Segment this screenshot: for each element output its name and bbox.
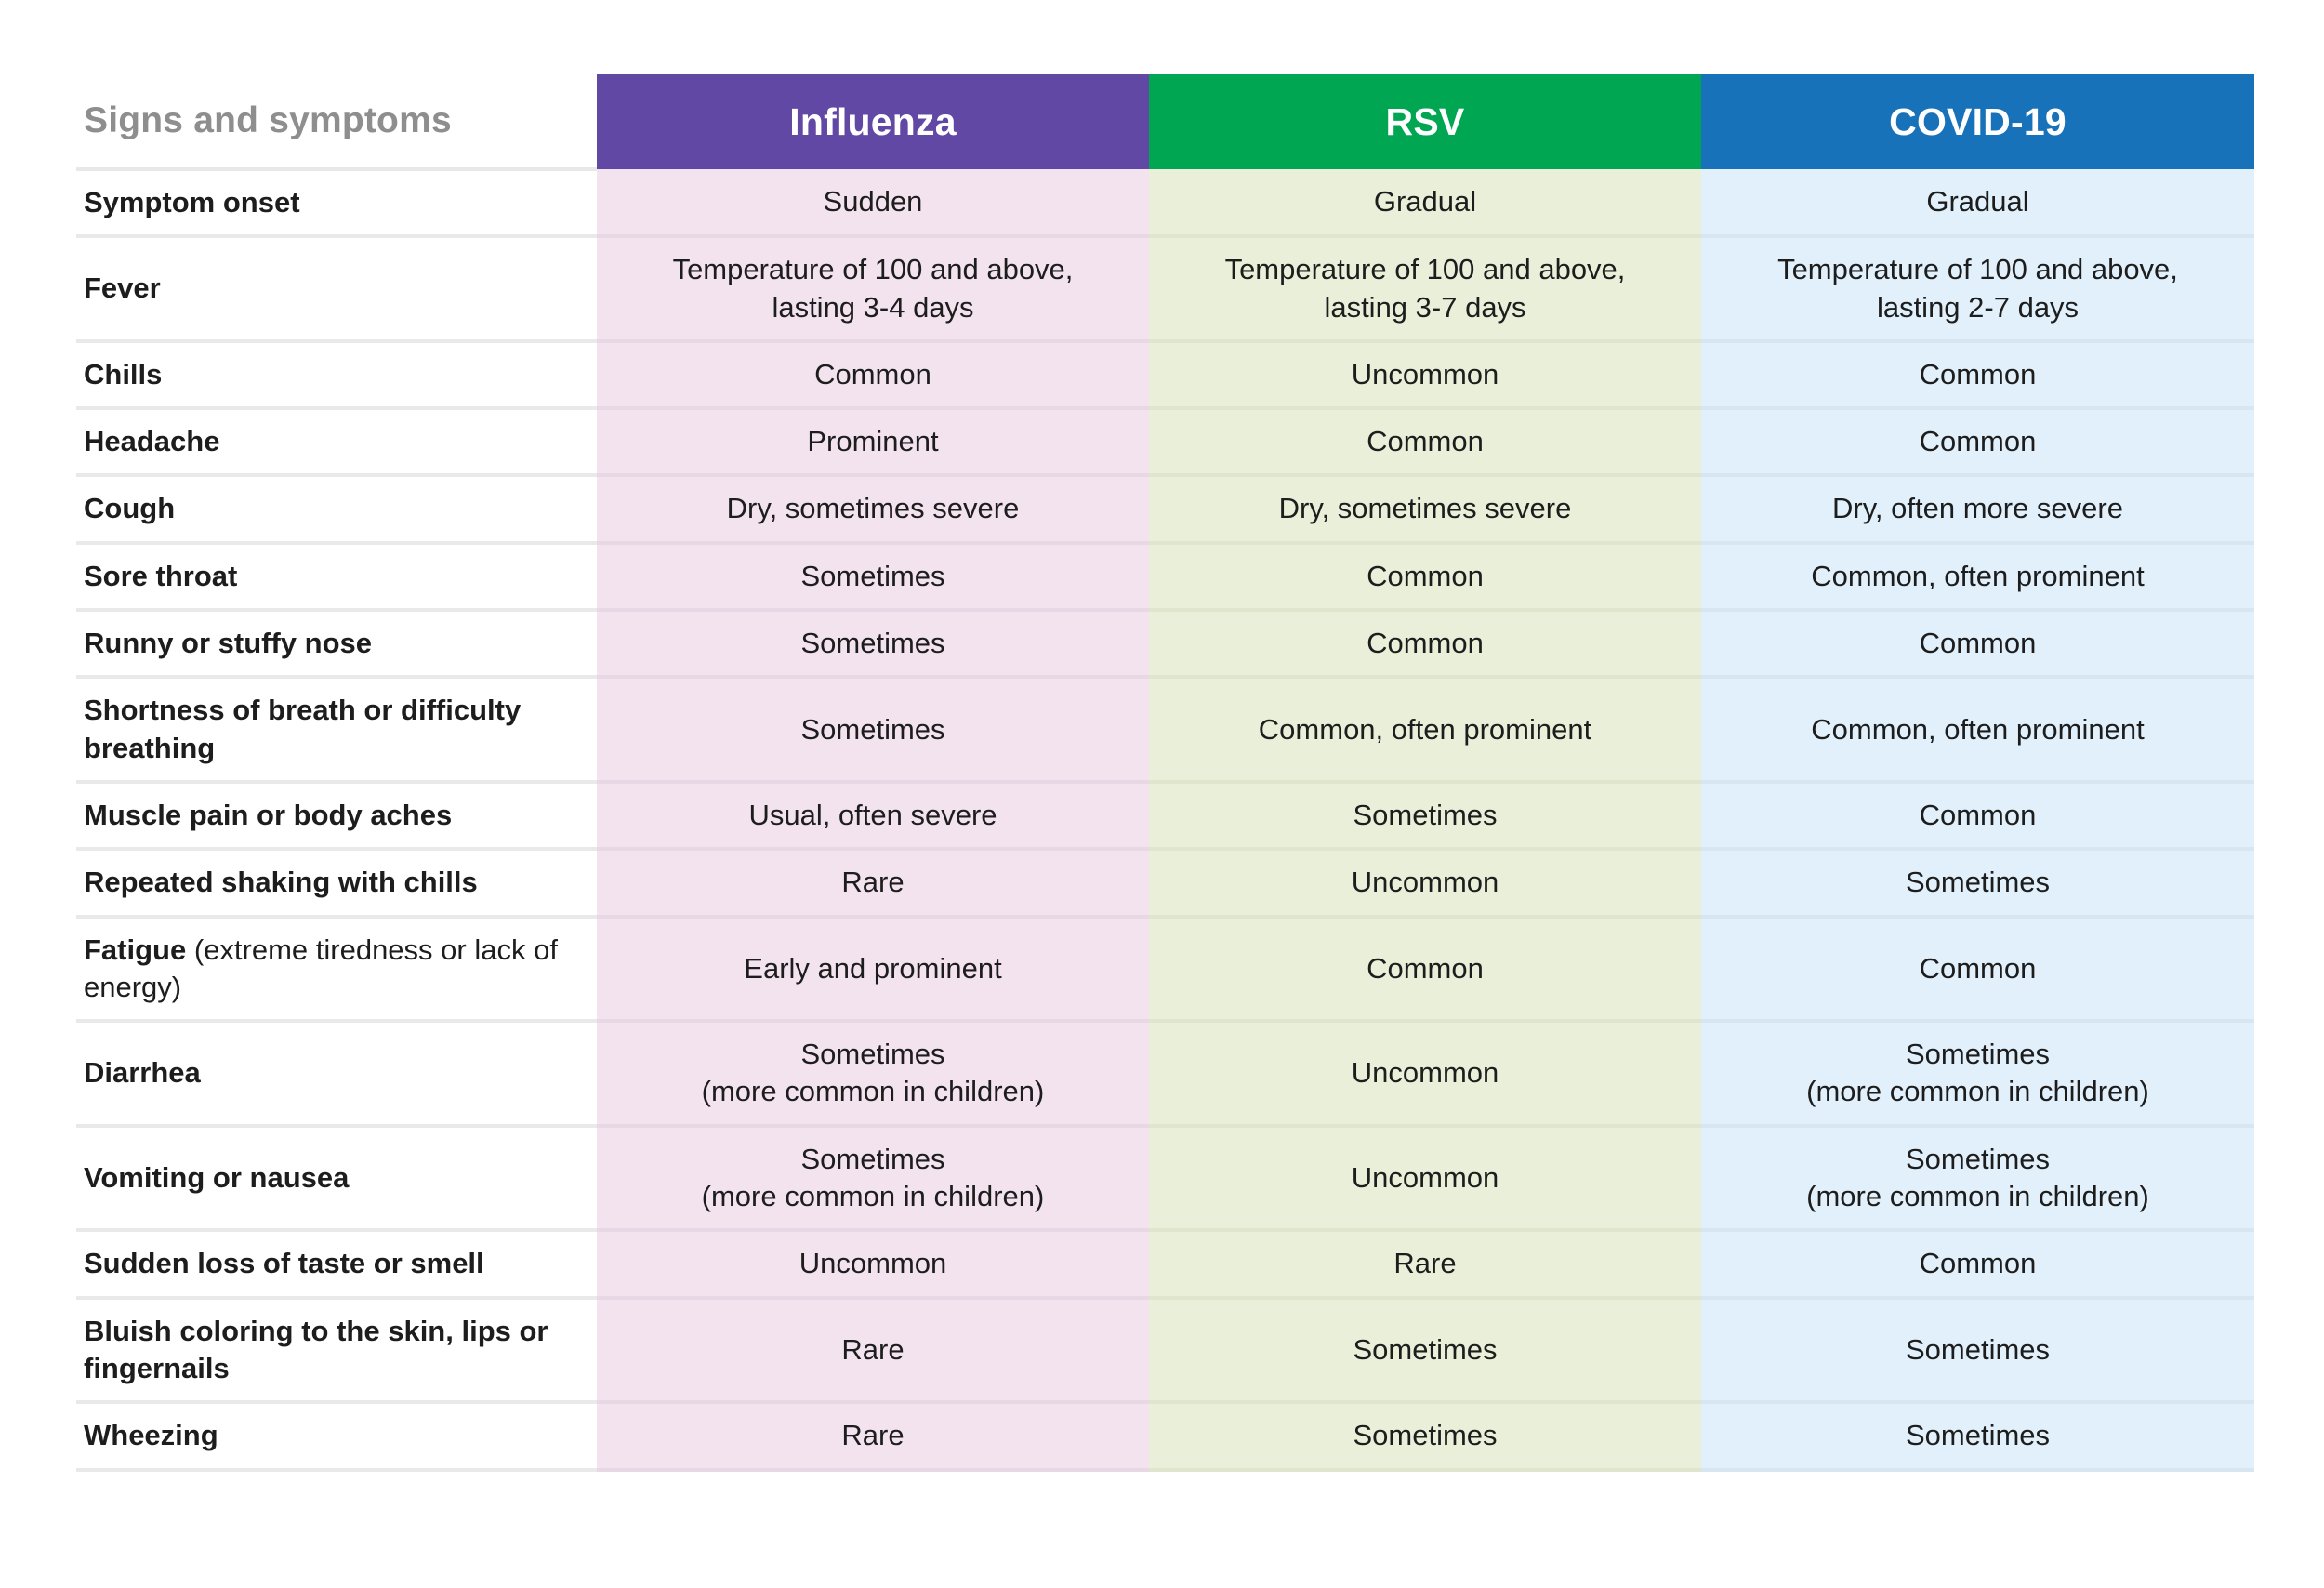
table-row: CoughDry, sometimes severeDry, sometimes… (76, 475, 2254, 542)
cell-influenza: Sometimes(more common in children) (597, 1126, 1149, 1231)
cell-covid-19: Common (1701, 408, 2254, 475)
row-label-text: Chills (84, 358, 162, 390)
row-label-text: Sore throat (84, 560, 237, 592)
cell-text-line-1: Sometimes (800, 1038, 944, 1070)
cell-covid-19: Common (1701, 1230, 2254, 1297)
table-row: HeadacheProminentCommonCommon (76, 408, 2254, 475)
cell-covid-19: Common, often prominent (1701, 677, 2254, 782)
cell-text-line-1: Gradual (1374, 185, 1476, 218)
row-label-cell: Runny or stuffy nose (76, 610, 597, 677)
cell-covid-19: Gradual (1701, 169, 2254, 236)
row-label-text: Headache (84, 425, 219, 457)
cell-text-line-2: (more common in children) (1716, 1073, 2239, 1110)
cell-covid-19: Common, often prominent (1701, 543, 2254, 610)
row-label-text: Sudden loss of taste or smell (84, 1247, 484, 1279)
table-row: Sudden loss of taste or smellUncommonRar… (76, 1230, 2254, 1297)
cell-covid-19: Common (1701, 782, 2254, 849)
row-label-text: Fatigue (84, 933, 186, 966)
cell-text-line-1: Sometimes (1906, 1143, 2050, 1175)
cell-text-line-1: Dry, sometimes severe (1279, 492, 1572, 524)
symptom-comparison-table: Signs and symptoms Influenza RSV COVID-1… (76, 74, 2254, 1472)
cell-text-line-2: lasting 2-7 days (1716, 289, 2239, 326)
cell-rsv: Common (1149, 408, 1701, 475)
cell-text-line-1: Sometimes (800, 713, 944, 746)
cell-text-line-1: Rare (1393, 1247, 1456, 1279)
row-label-text: Runny or stuffy nose (84, 627, 372, 659)
row-label-cell: Bluish coloring to the skin, lips or fin… (76, 1298, 597, 1403)
row-label-text: Bluish coloring to the skin, lips or fin… (84, 1315, 548, 1384)
symptom-comparison-table-container: Signs and symptoms Influenza RSV COVID-1… (76, 74, 2254, 1472)
row-label-text: Cough (84, 492, 175, 524)
table-row: Repeated shaking with chillsRareUncommon… (76, 849, 2254, 916)
cell-text-line-1: Uncommon (1352, 1161, 1499, 1194)
table-row: FeverTemperature of 100 and above,lastin… (76, 236, 2254, 341)
cell-influenza: Early and prominent (597, 917, 1149, 1022)
cell-text-line-1: Sometimes (800, 560, 944, 592)
table-row: Runny or stuffy noseSometimesCommonCommo… (76, 610, 2254, 677)
cell-rsv: Rare (1149, 1230, 1701, 1297)
cell-text-line-1: Common (814, 358, 931, 390)
row-label-cell: Muscle pain or body aches (76, 782, 597, 849)
cell-rsv: Gradual (1149, 169, 1701, 236)
row-label-cell: Diarrhea (76, 1021, 597, 1126)
cell-text-line-1: Sometimes (1353, 1333, 1497, 1366)
row-label-text: Muscle pain or body aches (84, 799, 452, 831)
row-label-cell: Chills (76, 341, 597, 408)
cell-influenza: Usual, often severe (597, 782, 1149, 849)
cell-text-line-1: Sometimes (1906, 866, 2050, 898)
table-row: Vomiting or nauseaSometimes(more common … (76, 1126, 2254, 1231)
cell-rsv: Sometimes (1149, 1402, 1701, 1469)
cell-covid-19: Sometimes (1701, 1402, 2254, 1469)
cell-text-line-1: Sudden (824, 185, 923, 218)
cell-influenza: Temperature of 100 and above,lasting 3-4… (597, 236, 1149, 341)
cell-covid-19: Common (1701, 341, 2254, 408)
cell-text-line-1: Sometimes (800, 627, 944, 659)
cell-text-line-1: Common (1367, 425, 1484, 457)
cell-text-line-1: Common, often prominent (1811, 713, 2144, 746)
cell-text-line-1: Rare (841, 866, 904, 898)
cell-influenza: Prominent (597, 408, 1149, 475)
row-label-cell: Symptom onset (76, 169, 597, 236)
table-row: Bluish coloring to the skin, lips or fin… (76, 1298, 2254, 1403)
cell-text-line-1: Common (1367, 952, 1484, 985)
cell-text-line-1: Rare (841, 1333, 904, 1366)
cell-rsv: Common (1149, 543, 1701, 610)
cell-text-line-1: Temperature of 100 and above, (1225, 253, 1626, 285)
cell-text-line-1: Dry, sometimes severe (727, 492, 1020, 524)
row-label-text: Fever (84, 271, 161, 304)
cell-text-line-1: Sometimes (1906, 1419, 2050, 1451)
column-header-signs-and-symptoms: Signs and symptoms (76, 74, 597, 169)
comparison-table-page: Signs and symptoms Influenza RSV COVID-1… (0, 0, 2324, 1588)
cell-text-line-1: Prominent (807, 425, 938, 457)
table-row: Symptom onsetSuddenGradualGradual (76, 169, 2254, 236)
cell-text-line-1: Common, often prominent (1259, 713, 1591, 746)
cell-covid-19: Sometimes(more common in children) (1701, 1021, 2254, 1126)
cell-text-line-1: Common (1367, 627, 1484, 659)
row-label-cell: Fatigue (extreme tiredness or lack of en… (76, 917, 597, 1022)
cell-text-line-1: Uncommon (799, 1247, 947, 1279)
table-row: DiarrheaSometimes(more common in childre… (76, 1021, 2254, 1126)
cell-rsv: Uncommon (1149, 1126, 1701, 1231)
table-header: Signs and symptoms Influenza RSV COVID-1… (76, 74, 2254, 169)
table-row: Sore throatSometimesCommonCommon, often … (76, 543, 2254, 610)
cell-text-line-1: Common (1920, 627, 2037, 659)
row-label-text: Repeated shaking with chills (84, 866, 478, 898)
cell-influenza: Rare (597, 849, 1149, 916)
cell-covid-19: Temperature of 100 and above,lasting 2-7… (1701, 236, 2254, 341)
cell-text-line-1: Common (1920, 1247, 2037, 1279)
cell-text-line-1: Sometimes (1353, 799, 1497, 831)
row-label-cell: Cough (76, 475, 597, 542)
cell-text-line-1: Sometimes (800, 1143, 944, 1175)
row-label-cell: Repeated shaking with chills (76, 849, 597, 916)
cell-text-line-1: Common (1920, 425, 2037, 457)
cell-influenza: Rare (597, 1402, 1149, 1469)
cell-rsv: Common (1149, 917, 1701, 1022)
cell-influenza: Common (597, 341, 1149, 408)
cell-covid-19: Dry, often more severe (1701, 475, 2254, 542)
cell-rsv: Temperature of 100 and above,lasting 3-7… (1149, 236, 1701, 341)
table-row: ChillsCommonUncommonCommon (76, 341, 2254, 408)
row-label-text: Diarrhea (84, 1056, 201, 1089)
cell-rsv: Dry, sometimes severe (1149, 475, 1701, 542)
cell-text-line-2: (more common in children) (1716, 1178, 2239, 1215)
cell-rsv: Common (1149, 610, 1701, 677)
row-label-cell: Sudden loss of taste or smell (76, 1230, 597, 1297)
cell-text-line-1: Early and prominent (744, 952, 1001, 985)
cell-text-line-1: Uncommon (1352, 358, 1499, 390)
row-label-cell: Shortness of breath or difficulty breath… (76, 677, 597, 782)
cell-text-line-1: Common (1920, 358, 2037, 390)
cell-text-line-1: Common (1920, 952, 2037, 985)
table-row: WheezingRareSometimesSometimes (76, 1402, 2254, 1469)
cell-influenza: Sometimes (597, 543, 1149, 610)
cell-influenza: Sudden (597, 169, 1149, 236)
cell-rsv: Uncommon (1149, 341, 1701, 408)
table-row: Fatigue (extreme tiredness or lack of en… (76, 917, 2254, 1022)
row-label-text: Vomiting or nausea (84, 1161, 349, 1194)
cell-text-line-1: Usual, often severe (748, 799, 997, 831)
cell-text-line-1: Rare (841, 1419, 904, 1451)
row-label-text: Wheezing (84, 1419, 218, 1451)
cell-covid-19: Sometimes (1701, 849, 2254, 916)
cell-text-line-1: Gradual (1926, 185, 2028, 218)
column-header-influenza: Influenza (597, 74, 1149, 169)
cell-covid-19: Common (1701, 610, 2254, 677)
cell-text-line-2: lasting 3-7 days (1164, 289, 1686, 326)
table-row: Muscle pain or body achesUsual, often se… (76, 782, 2254, 849)
table-row: Shortness of breath or difficulty breath… (76, 677, 2254, 782)
cell-influenza: Sometimes (597, 610, 1149, 677)
cell-influenza: Dry, sometimes severe (597, 475, 1149, 542)
cell-text-line-1: Uncommon (1352, 1056, 1499, 1089)
cell-influenza: Sometimes (597, 677, 1149, 782)
cell-rsv: Common, often prominent (1149, 677, 1701, 782)
cell-covid-19: Sometimes (1701, 1298, 2254, 1403)
cell-text-line-2: (more common in children) (612, 1178, 1134, 1215)
table-header-row: Signs and symptoms Influenza RSV COVID-1… (76, 74, 2254, 169)
row-label-cell: Wheezing (76, 1402, 597, 1469)
column-header-covid-19: COVID-19 (1701, 74, 2254, 169)
cell-rsv: Sometimes (1149, 1298, 1701, 1403)
cell-text-line-1: Uncommon (1352, 866, 1499, 898)
cell-rsv: Uncommon (1149, 849, 1701, 916)
row-label-text: Shortness of breath or difficulty breath… (84, 694, 521, 763)
cell-text-line-1: Common, often prominent (1811, 560, 2144, 592)
cell-text-line-1: Common (1920, 799, 2037, 831)
row-label-cell: Headache (76, 408, 597, 475)
cell-text-line-1: Sometimes (1353, 1419, 1497, 1451)
cell-text-line-1: Temperature of 100 and above, (1777, 253, 2178, 285)
cell-influenza: Uncommon (597, 1230, 1149, 1297)
row-label-text: Symptom onset (84, 186, 300, 218)
row-label-cell: Sore throat (76, 543, 597, 610)
cell-text-line-2: (more common in children) (612, 1073, 1134, 1110)
column-header-rsv: RSV (1149, 74, 1701, 169)
cell-rsv: Sometimes (1149, 782, 1701, 849)
cell-influenza: Rare (597, 1298, 1149, 1403)
cell-influenza: Sometimes(more common in children) (597, 1021, 1149, 1126)
cell-covid-19: Common (1701, 917, 2254, 1022)
row-label-cell: Fever (76, 236, 597, 341)
cell-text-line-1: Dry, often more severe (1832, 492, 2123, 524)
row-label-cell: Vomiting or nausea (76, 1126, 597, 1231)
cell-text-line-1: Common (1367, 560, 1484, 592)
cell-covid-19: Sometimes(more common in children) (1701, 1126, 2254, 1231)
cell-text-line-1: Temperature of 100 and above, (673, 253, 1074, 285)
cell-rsv: Uncommon (1149, 1021, 1701, 1126)
cell-text-line-2: lasting 3-4 days (612, 289, 1134, 326)
table-body: Symptom onsetSuddenGradualGradualFeverTe… (76, 169, 2254, 1470)
cell-text-line-1: Sometimes (1906, 1333, 2050, 1366)
cell-text-line-1: Sometimes (1906, 1038, 2050, 1070)
